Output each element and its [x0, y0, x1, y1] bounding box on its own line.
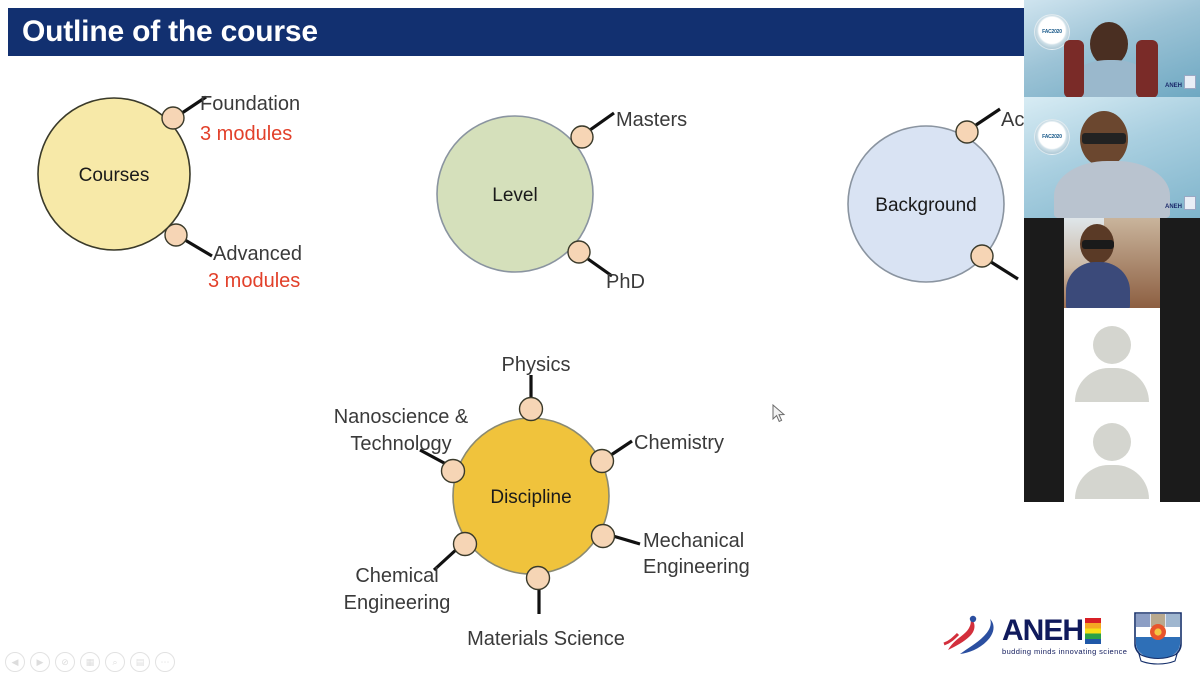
slide-diagrams: Courses Foundation 3 modules Advanced 3 …: [0, 0, 1200, 675]
aneh-logo: ANEH budding minds innovating science: [940, 614, 1127, 658]
university-crest-icon: [1131, 610, 1185, 666]
courses-node-foundation: [162, 107, 184, 129]
level-node-masters-label: Masters: [616, 109, 687, 131]
video-tile-participant-1[interactable]: FAC2020 ANEH: [1024, 0, 1200, 97]
courses-node-advanced: [165, 224, 187, 246]
discipline-node-materials: [527, 567, 550, 590]
background-node-industry: [971, 245, 993, 267]
discipline-node-chemical-label-line2: Engineering: [344, 592, 451, 614]
discipline-node-nano-label-line1: Nanoscience &: [334, 406, 469, 428]
participant-photo: [1064, 218, 1160, 308]
background-node-academia: [956, 121, 978, 143]
courses-center-label: Courses: [79, 165, 150, 186]
conference-badge-icon: FAC2020: [1034, 119, 1070, 155]
discipline-connector-mechanical: [613, 536, 640, 544]
footer-logos: ANEH budding minds innovating science: [935, 608, 1185, 668]
diagram-background: Background Ac: [848, 109, 1024, 282]
discipline-node-mechanical: [592, 525, 615, 548]
mouse-cursor-icon: [772, 404, 788, 424]
discipline-node-chemistry-label: Chemistry: [634, 432, 724, 454]
participant-chair-left: [1064, 40, 1084, 97]
discipline-center-label: Discipline: [490, 487, 571, 508]
background-connector-academia: [976, 109, 1000, 125]
diagram-level: Level Masters PhD: [437, 109, 687, 293]
background-node-academia-label: Ac: [1001, 109, 1024, 131]
level-center-label: Level: [492, 185, 537, 206]
video-tile-placeholder-1[interactable]: [1024, 308, 1200, 405]
next-slide-button[interactable]: ▶: [30, 652, 50, 672]
discipline-node-physics-label: Physics: [502, 354, 571, 376]
slideshow-stage: Outline of the course Courses Foundation…: [0, 0, 1200, 675]
participant-torso: [1054, 161, 1170, 218]
level-node-masters: [571, 126, 593, 148]
participant-glasses: [1082, 133, 1126, 144]
level-connector-masters: [590, 113, 614, 130]
video-tile-placeholder-2[interactable]: [1024, 405, 1200, 502]
slideshow-toolbar[interactable]: ◀ ▶ ⊘ ▦ ⌕ ▤ ⋯: [5, 652, 175, 672]
avatar: [1064, 308, 1160, 405]
aneh-color-bars-icon: [1085, 618, 1101, 644]
discipline-node-mechanical-label-line1: Mechanical: [643, 530, 744, 552]
zoom-button[interactable]: ⌕: [105, 652, 125, 672]
discipline-node-chemical-label-line1: Chemical: [355, 565, 438, 587]
video-tile-participant-3[interactable]: [1024, 218, 1200, 308]
courses-node-foundation-sub: 3 modules: [200, 123, 292, 145]
participant-glasses: [1082, 240, 1114, 249]
courses-node-foundation-label: Foundation: [200, 93, 300, 115]
tile-sponsor-logo: ANEH: [1165, 196, 1196, 210]
discipline-node-nano: [442, 460, 465, 483]
background-center-label: Background: [875, 195, 976, 216]
video-tile-participant-2[interactable]: FAC2020 ANEH: [1024, 97, 1200, 218]
discipline-node-mechanical-label-line2: Engineering: [643, 556, 750, 578]
discipline-node-chemical: [454, 533, 477, 556]
video-participants-panel[interactable]: FAC2020 ANEH FAC2020 ANEH: [1024, 0, 1200, 675]
previous-slide-button[interactable]: ◀: [5, 652, 25, 672]
aneh-name: ANEH: [1002, 616, 1083, 646]
pen-tool-button[interactable]: ⊘: [55, 652, 75, 672]
aneh-wordmark: ANEH budding minds innovating science: [1002, 616, 1127, 656]
background-connector-industry: [991, 262, 1018, 279]
discipline-node-chemistry: [591, 450, 614, 473]
diagram-courses: Courses Foundation 3 modules Advanced 3 …: [38, 93, 302, 292]
avatar: [1064, 405, 1160, 502]
diagram-discipline: Discipline Physics Chemistry Mechanical …: [334, 354, 750, 650]
courses-connector-advanced: [185, 240, 212, 256]
tile-sponsor-logo: ANEH: [1165, 75, 1196, 89]
discipline-node-nano-label-line2: Technology: [350, 433, 451, 455]
discipline-node-materials-label: Materials Science: [467, 628, 625, 650]
subtitles-button[interactable]: ▤: [130, 652, 150, 672]
aneh-dancer-icon: [940, 614, 998, 658]
participant-torso: [1066, 262, 1130, 308]
level-node-phd: [568, 241, 590, 263]
aneh-tagline: budding minds innovating science: [1002, 648, 1127, 656]
courses-node-advanced-label: Advanced: [213, 243, 302, 265]
participant-chair-right: [1136, 40, 1158, 97]
courses-node-advanced-sub: 3 modules: [208, 270, 300, 292]
level-node-phd-label: PhD: [606, 271, 645, 293]
more-options-button[interactable]: ⋯: [155, 652, 175, 672]
discipline-node-physics: [520, 398, 543, 421]
all-slides-button[interactable]: ▦: [80, 652, 100, 672]
